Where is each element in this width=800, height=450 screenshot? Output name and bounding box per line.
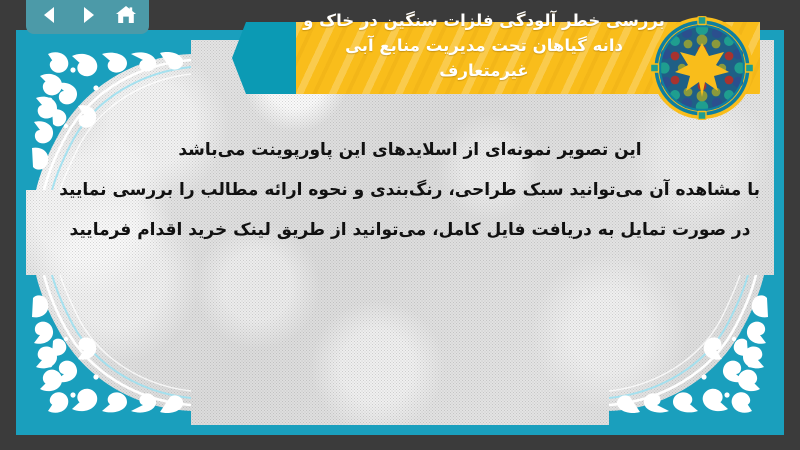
triangle-left-icon — [40, 5, 60, 25]
navigation-bar — [26, 0, 149, 34]
forward-button[interactable] — [74, 3, 102, 27]
body-line-1: این تصویر نمونه‌ای از اسلایدهای این پاور… — [60, 130, 760, 170]
back-button[interactable] — [36, 3, 64, 27]
slide-body-text: این تصویر نمونه‌ای از اسلایدهای این پاور… — [60, 130, 760, 250]
home-button[interactable] — [112, 3, 140, 27]
persian-tile-medallion-icon — [650, 16, 754, 120]
triangle-right-icon — [78, 5, 98, 25]
arabesque-ornament-bottom-left — [26, 275, 191, 425]
body-line-2: با مشاهده آن می‌توانید سبک طراحی، رنگ‌بن… — [60, 170, 760, 210]
body-line-3: در صورت تمایل به دریافت فایل کامل، می‌تو… — [60, 210, 760, 250]
home-icon — [115, 5, 137, 25]
page-title-line-1: بررسی خطر آلودگی فلزات سنگین در خاک و — [232, 8, 736, 33]
arabesque-ornament-bottom-right — [609, 275, 774, 425]
